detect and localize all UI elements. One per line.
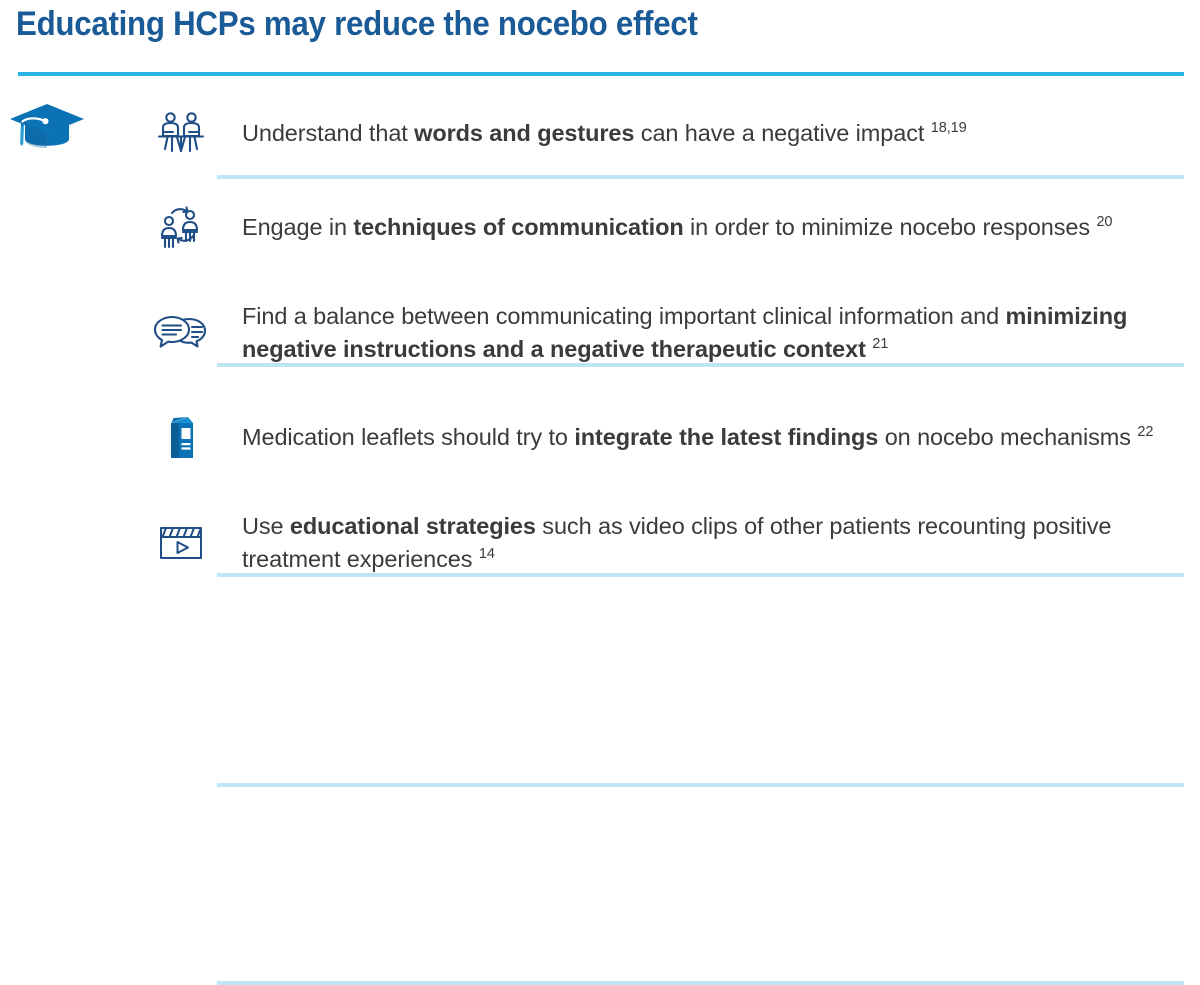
- list-item-text: Medication leaflets should try to integr…: [242, 421, 1157, 454]
- row1-bold-text: words and gestures: [414, 120, 634, 146]
- row4-tail-text: on nocebo mechanisms: [878, 424, 1137, 450]
- row5-lead-text: Use: [242, 513, 290, 539]
- row5-reference: 14: [479, 546, 495, 562]
- slide-root: Educating HCPs may reduce the nocebo eff…: [0, 0, 1200, 598]
- people-exchange-arrows-icon: [148, 202, 214, 254]
- row3-lead-text: Find a balance between communicating imp…: [242, 303, 1006, 329]
- row4-reference: 22: [1137, 424, 1153, 440]
- list-item: Understand that words and gestures can h…: [0, 92, 1200, 175]
- row-divider: [217, 783, 1184, 787]
- row3-reference: 21: [872, 336, 888, 352]
- list-item-text: Engage in techniques of communication in…: [242, 211, 1157, 244]
- row1-reference: 18,19: [931, 120, 967, 136]
- list-item-text: Find a balance between communicating imp…: [242, 300, 1157, 366]
- row5-bold-text: educational strategies: [290, 513, 536, 539]
- list-item: Engage in techniques of communication in…: [0, 175, 1200, 280]
- list-item: Find a balance between communicating imp…: [0, 280, 1200, 385]
- recommendation-list: Understand that words and gestures can h…: [0, 92, 1200, 595]
- video-clapperboard-icon: [148, 517, 214, 569]
- title-underline-rule: [18, 72, 1184, 76]
- list-item: Use educational strategies such as video…: [0, 490, 1200, 595]
- list-item-text: Use educational strategies such as video…: [242, 510, 1157, 576]
- row1-lead-text: Understand that: [242, 120, 414, 146]
- leaflet-brochure-icon: [148, 412, 214, 464]
- page-title: Educating HCPs may reduce the nocebo eff…: [16, 2, 698, 46]
- row4-lead-text: Medication leaflets should try to: [242, 424, 574, 450]
- row1-tail-text: can have a negative impact: [634, 120, 930, 146]
- row2-reference: 20: [1096, 214, 1112, 230]
- row2-bold-text: techniques of communication: [353, 214, 683, 240]
- two-people-table-icon: [148, 108, 214, 160]
- list-item-text: Understand that words and gestures can h…: [242, 117, 1157, 150]
- row2-lead-text: Engage in: [242, 214, 353, 240]
- row-divider: [217, 981, 1184, 985]
- list-item: Medication leaflets should try to integr…: [0, 385, 1200, 490]
- row2-tail-text: in order to minimize nocebo responses: [684, 214, 1097, 240]
- row4-bold-text: integrate the latest findings: [574, 424, 878, 450]
- speech-bubbles-icon: [148, 307, 214, 359]
